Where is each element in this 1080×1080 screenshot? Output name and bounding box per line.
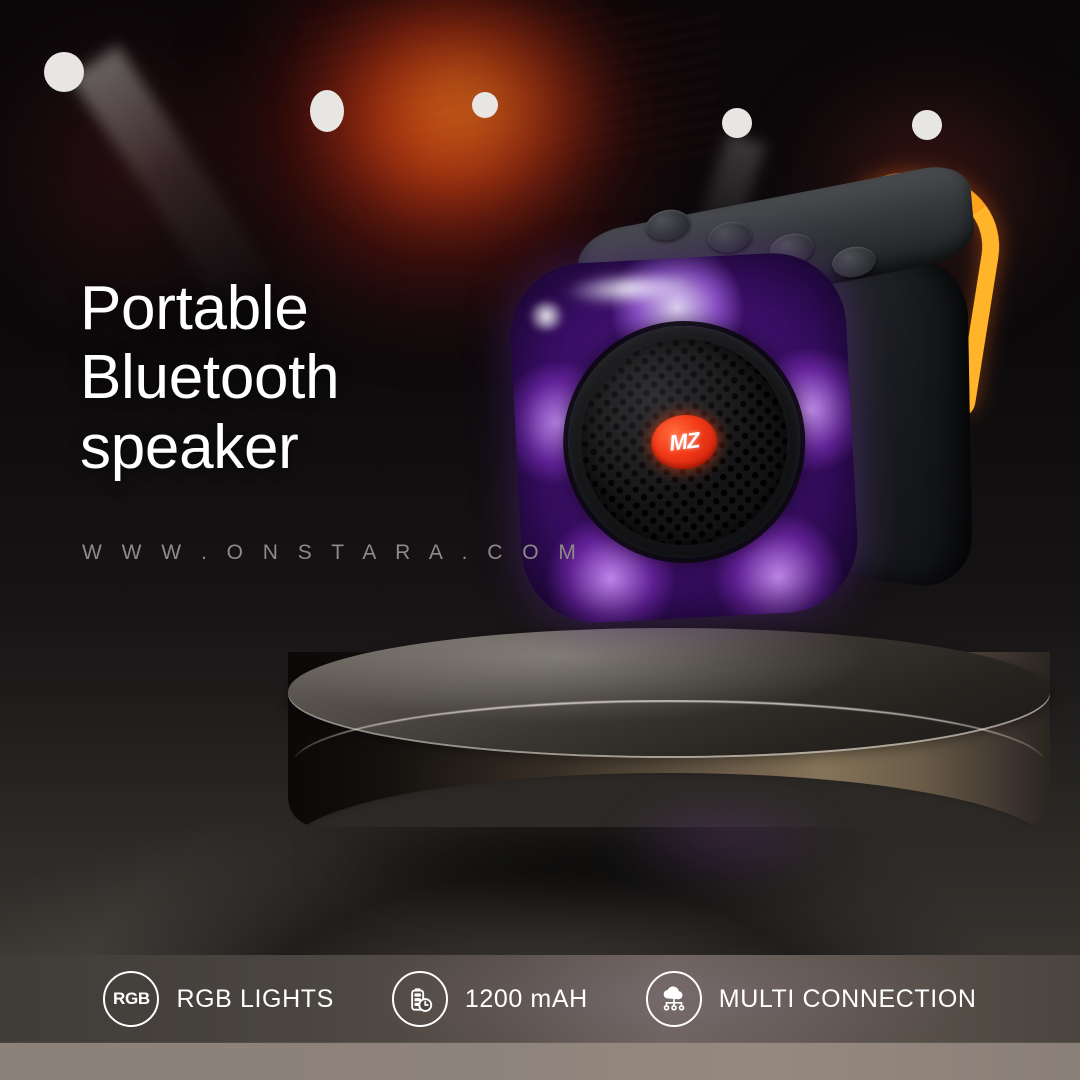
- speaker-led-face: MZ: [507, 249, 861, 626]
- rgb-badge-icon: RGB: [103, 971, 159, 1027]
- cloud-network-icon: [646, 971, 702, 1027]
- podium-led-reflection: [560, 780, 890, 900]
- spotlight-1: [44, 52, 84, 92]
- feature-label-rgb-lights: RGB LIGHTS: [176, 985, 333, 1014]
- brand-logo-text: MZ: [668, 427, 701, 456]
- feature-label-battery: 1200 mAH: [465, 985, 588, 1014]
- spotlight-2: [310, 90, 344, 132]
- face-specular-highlight: [543, 262, 715, 315]
- headline-line-2: Bluetooth: [80, 343, 510, 412]
- speaker-driver: MZ: [562, 320, 806, 564]
- website-url: W W W . O N S T A R A . C O M: [82, 541, 583, 565]
- spotlight-4: [722, 108, 752, 138]
- stage-truss: [300, 10, 720, 160]
- spotlight-5: [912, 110, 942, 140]
- face-specular-dot: [525, 300, 569, 332]
- feature-bar: RGB RGB LIGHTS 1200 mAH: [0, 955, 1080, 1043]
- headline-line-3: speaker: [80, 413, 510, 482]
- rgb-badge-text: RGB: [113, 989, 150, 1009]
- product-speaker: MZ: [498, 170, 1018, 650]
- bottom-strip: [0, 1043, 1080, 1080]
- spotlight-3: [472, 92, 498, 118]
- headline-line-1: Portable: [80, 274, 510, 343]
- feature-item-rgb-lights: RGB RGB LIGHTS: [103, 971, 333, 1027]
- feature-item-multi-connection: MULTI CONNECTION: [646, 971, 977, 1027]
- feature-item-battery: 1200 mAH: [392, 971, 588, 1027]
- battery-clock-icon: [392, 971, 448, 1027]
- feature-label-multi-connection: MULTI CONNECTION: [719, 985, 977, 1014]
- advertisement-canvas: MZ Portable Bluetooth speaker W W W . O …: [0, 0, 1080, 1080]
- page-title: Portable Bluetooth speaker: [80, 274, 510, 482]
